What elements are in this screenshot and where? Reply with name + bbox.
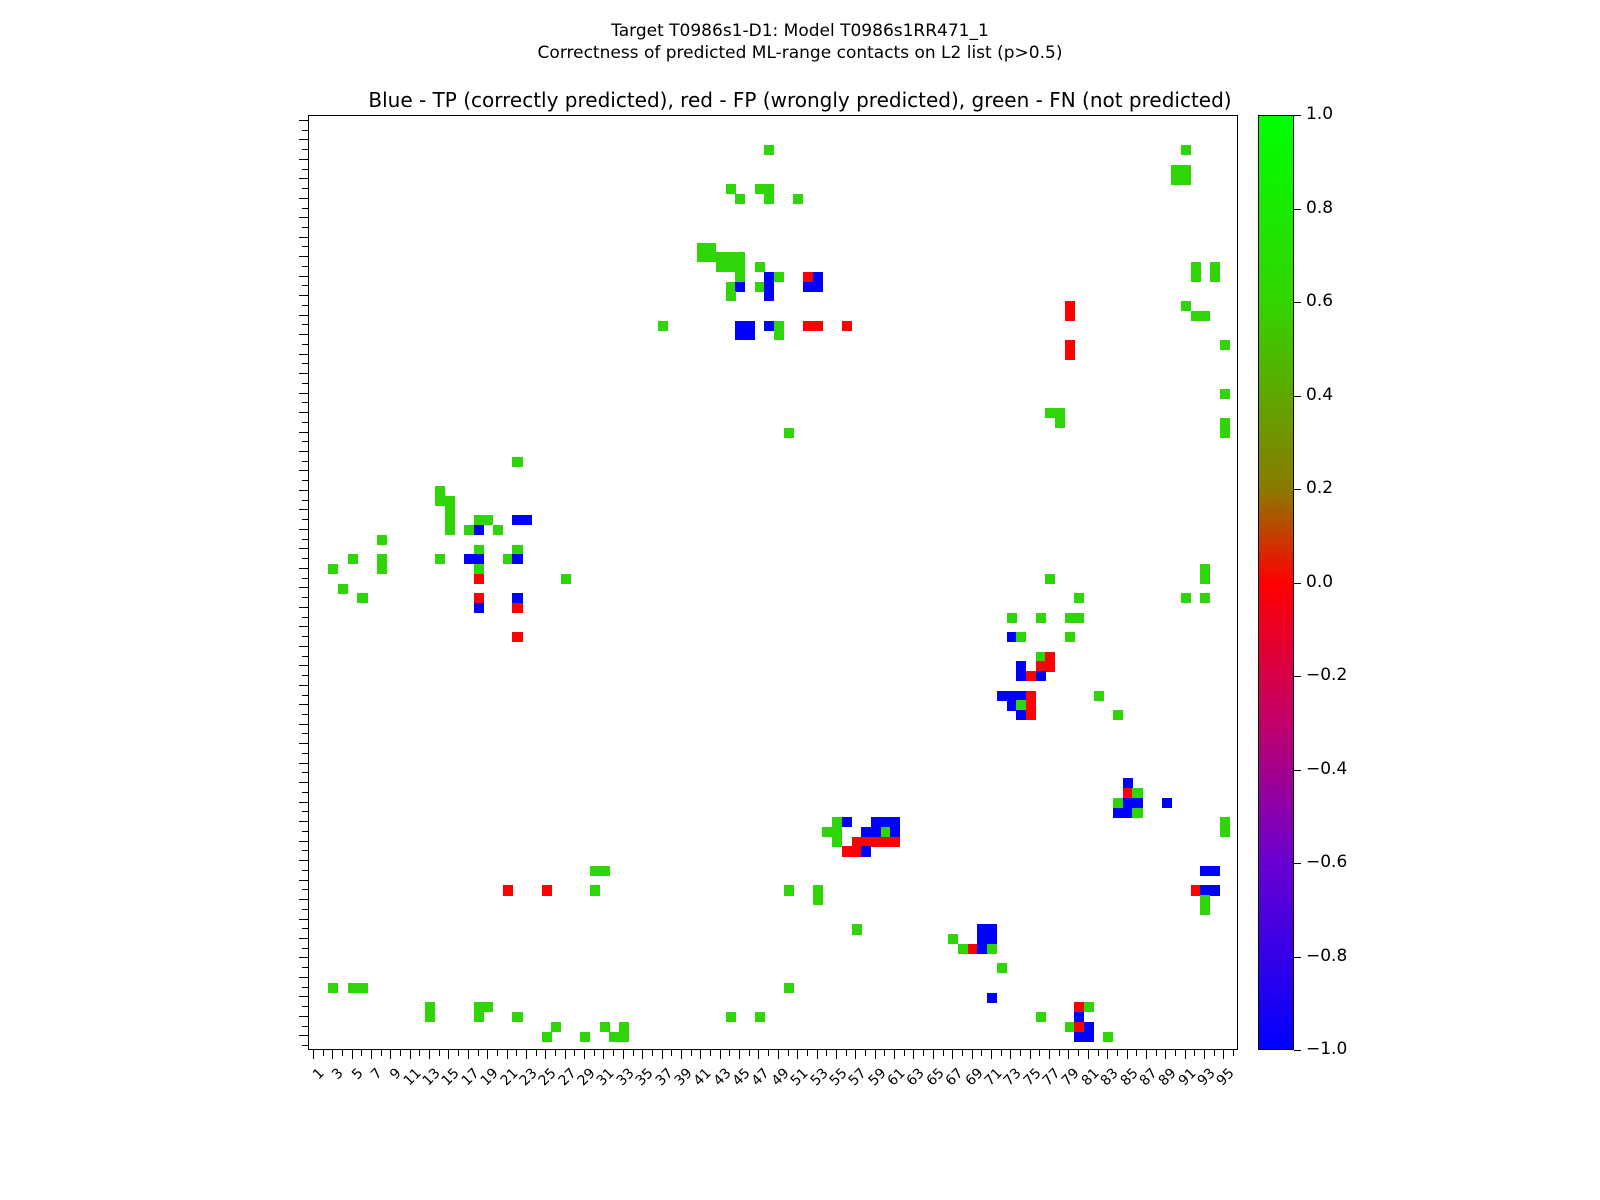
x-axis-tick — [1194, 1050, 1195, 1056]
y-axis-tick — [299, 315, 308, 316]
y-axis-tick — [299, 470, 308, 471]
x-axis-tick — [332, 1050, 333, 1059]
contact-cell — [764, 282, 774, 292]
contact-cell — [1026, 700, 1036, 710]
contact-cell — [1065, 350, 1075, 360]
y-axis-tick — [299, 860, 308, 861]
x-axis-tick — [497, 1050, 498, 1056]
contact-cell — [590, 885, 600, 895]
contact-cell — [745, 321, 755, 331]
contact-cell — [852, 837, 862, 847]
x-axis-tick — [923, 1050, 924, 1056]
x-axis-tick — [633, 1050, 634, 1056]
x-axis-tick — [487, 1050, 488, 1059]
contact-cell — [1123, 798, 1133, 808]
contact-cell — [1210, 272, 1220, 282]
contact-cell — [474, 515, 484, 525]
contact-cell — [1191, 885, 1201, 895]
x-axis-tick — [565, 1050, 566, 1059]
contact-cell — [1036, 652, 1046, 662]
y-axis-tick — [299, 899, 308, 900]
x-axis-tick — [594, 1050, 595, 1056]
contact-cell — [522, 515, 532, 525]
contact-cell — [803, 282, 813, 292]
colorbar-tick-label: −0.6 — [1306, 854, 1347, 871]
contact-cell — [1220, 389, 1230, 399]
x-axis-tick — [700, 1050, 701, 1059]
contact-cell — [726, 184, 736, 194]
colorbar-tick — [1294, 1050, 1301, 1051]
contact-cell — [890, 817, 900, 827]
contact-cell — [852, 846, 862, 856]
contact-cell — [1036, 671, 1046, 681]
x-axis-tick — [943, 1050, 944, 1056]
contact-cell — [764, 321, 774, 331]
contact-cell — [987, 934, 997, 944]
x-axis-tick — [681, 1050, 682, 1059]
y-axis-tick — [299, 607, 308, 608]
contact-cell — [890, 837, 900, 847]
x-axis-tick — [758, 1050, 759, 1059]
contact-cell — [1220, 428, 1230, 438]
y-axis-tick — [299, 1016, 308, 1017]
colorbar-tick-label: 0.8 — [1306, 200, 1333, 217]
contact-cell — [1123, 808, 1133, 818]
contact-cell — [871, 837, 881, 847]
x-axis-tick — [720, 1050, 721, 1059]
contact-cell — [435, 486, 445, 496]
y-axis-tick — [299, 451, 308, 452]
contact-cell — [735, 262, 745, 272]
y-axis-tick — [299, 802, 308, 803]
x-axis-tick — [439, 1050, 440, 1056]
contact-cell — [803, 321, 813, 331]
x-axis-tick — [671, 1050, 672, 1056]
x-axis-tick — [361, 1050, 362, 1056]
contact-cell — [755, 262, 765, 272]
colorbar-tick-label: −0.4 — [1306, 761, 1347, 778]
contact-cell — [842, 817, 852, 827]
contact-cell — [1200, 905, 1210, 915]
contact-cell — [735, 252, 745, 262]
x-axis-tick — [991, 1050, 992, 1059]
contact-cell — [948, 934, 958, 944]
x-axis-tick — [1233, 1050, 1234, 1056]
x-axis-tick — [429, 1050, 430, 1059]
contact-cell — [1113, 710, 1123, 720]
x-axis-tick — [1204, 1050, 1205, 1059]
x-axis-tick — [410, 1050, 411, 1059]
contact-cell — [435, 496, 445, 506]
contact-cell — [1065, 340, 1075, 350]
colorbar-gradient — [1258, 115, 1294, 1050]
contact-cell — [377, 564, 387, 574]
contact-cell — [357, 593, 367, 603]
contact-cell — [445, 496, 455, 506]
contact-cell — [1084, 1022, 1094, 1032]
x-axis-tick — [613, 1050, 614, 1056]
colorbar-tick-label: −1.0 — [1306, 1041, 1347, 1058]
contact-cell — [377, 535, 387, 545]
contact-cell — [474, 545, 484, 555]
colorbar-tick — [1294, 957, 1301, 958]
contact-cell — [542, 885, 552, 895]
contact-cell — [813, 895, 823, 905]
contact-cell — [348, 983, 358, 993]
colorbar-tick — [1294, 302, 1301, 303]
x-axis-tick — [1185, 1050, 1186, 1059]
x-axis-tick — [555, 1050, 556, 1056]
y-axis-tick — [299, 685, 308, 686]
contact-map-plot[interactable] — [308, 115, 1238, 1050]
contact-cell — [1074, 593, 1084, 603]
contact-cell — [1036, 661, 1046, 671]
y-axis-tick — [299, 237, 308, 238]
contact-cell — [483, 1002, 493, 1012]
contact-cell — [619, 1022, 629, 1032]
contact-cell — [445, 506, 455, 516]
y-axis-tick — [299, 782, 308, 783]
contact-cell — [1181, 165, 1191, 175]
contact-cell — [1220, 817, 1230, 827]
contact-cell — [503, 554, 513, 564]
contact-cell — [774, 330, 784, 340]
y-axis-tick — [299, 938, 308, 939]
contact-cell — [1065, 613, 1075, 623]
y-axis-tick — [299, 880, 308, 881]
x-axis-tick — [313, 1050, 314, 1059]
contact-cell — [977, 944, 987, 954]
colorbar-tick — [1294, 770, 1301, 771]
y-axis-labels: 1357911131517192123252729313335373941434… — [0, 115, 300, 1050]
contact-cell — [1007, 632, 1017, 642]
contact-cell — [1074, 1012, 1084, 1022]
y-axis-tick — [299, 665, 308, 666]
contact-cell — [474, 574, 484, 584]
x-axis-tick — [642, 1050, 643, 1059]
contact-cell — [987, 944, 997, 954]
y-axis-tick — [299, 957, 308, 958]
contact-cell — [483, 515, 493, 525]
contact-cell — [968, 944, 978, 954]
contact-cell — [1181, 301, 1191, 311]
contact-cell — [512, 632, 522, 642]
contact-cell — [1094, 691, 1104, 701]
contact-cell — [1181, 174, 1191, 184]
contact-cell — [474, 1012, 484, 1022]
contact-cell — [580, 1032, 590, 1042]
contact-cell — [735, 282, 745, 292]
contact-cell — [987, 993, 997, 1003]
contact-cell — [1200, 866, 1210, 876]
contact-cell — [706, 243, 716, 253]
contact-cell — [745, 330, 755, 340]
contact-cell — [1200, 895, 1210, 905]
x-axis-tick — [400, 1050, 401, 1056]
contact-cell — [1065, 301, 1075, 311]
chart-title-line2: Correctness of predicted ML-range contac… — [0, 43, 1600, 63]
contact-cell — [1132, 798, 1142, 808]
x-axis-tick — [1020, 1050, 1021, 1056]
x-axis-tick — [419, 1050, 420, 1056]
contact-cell — [822, 827, 832, 837]
y-axis-tick — [299, 841, 308, 842]
y-axis-tick — [299, 548, 308, 549]
contact-cell — [832, 837, 842, 847]
contact-cell — [658, 321, 668, 331]
contact-cell — [1074, 1022, 1084, 1032]
colorbar-tick — [1294, 489, 1301, 490]
x-axis-tick — [448, 1050, 449, 1059]
x-axis-tick — [972, 1050, 973, 1059]
contact-cell — [512, 1012, 522, 1022]
y-axis-tick — [299, 977, 308, 978]
colorbar-tick-label: 0.4 — [1306, 387, 1333, 404]
contact-cell — [348, 554, 358, 564]
x-axis-tick — [652, 1050, 653, 1056]
contact-cell — [1045, 652, 1055, 662]
y-axis-tick — [299, 763, 308, 764]
contact-cell — [474, 593, 484, 603]
x-axis-tick — [933, 1050, 934, 1059]
y-axis-tick — [299, 373, 308, 374]
y-axis-tick — [299, 509, 308, 510]
contact-cell — [1065, 1022, 1075, 1032]
x-axis-tick — [1068, 1050, 1069, 1059]
contact-cell — [1007, 700, 1017, 710]
contact-cell — [726, 282, 736, 292]
contact-cell — [764, 194, 774, 204]
x-axis-tick — [1223, 1050, 1224, 1059]
contact-cell — [774, 272, 784, 282]
contact-cell — [338, 584, 348, 594]
contact-cell — [1113, 808, 1123, 818]
x-axis-tick — [342, 1050, 343, 1056]
colorbar-tick-label: 0.6 — [1306, 293, 1333, 310]
contact-cell — [600, 1022, 610, 1032]
contact-cell — [464, 554, 474, 564]
contact-cell — [1210, 885, 1220, 895]
contact-cell — [774, 321, 784, 331]
contact-cell — [1016, 710, 1026, 720]
contact-cell — [1200, 593, 1210, 603]
contact-cell — [1200, 885, 1210, 895]
x-axis-tick — [1039, 1050, 1040, 1056]
contact-cell — [328, 564, 338, 574]
contact-cell — [1065, 311, 1075, 321]
x-axis-tick — [545, 1050, 546, 1059]
contact-cell — [1074, 613, 1084, 623]
colorbar-tick — [1294, 115, 1301, 116]
contact-cell — [1132, 788, 1142, 798]
contact-cell — [813, 885, 823, 895]
contact-cell — [590, 866, 600, 876]
x-axis-tick — [1117, 1050, 1118, 1056]
colorbar-tick-label: −0.8 — [1306, 948, 1347, 965]
chart-title-line1: Target T0986s1-D1: Model T0986s1RR471_1 — [0, 21, 1600, 41]
x-axis-tick — [846, 1050, 847, 1056]
contact-cell — [755, 282, 765, 292]
x-axis-tick — [826, 1050, 827, 1056]
contact-cell — [512, 554, 522, 564]
x-axis-tick — [574, 1050, 575, 1056]
contact-cell — [425, 1002, 435, 1012]
contact-cell — [1162, 798, 1172, 808]
contact-cell — [1045, 574, 1055, 584]
y-axis-tick — [299, 743, 308, 744]
contact-cell — [697, 252, 707, 262]
x-axis-tick — [1146, 1050, 1147, 1059]
x-axis-tick — [1088, 1050, 1089, 1059]
contact-cell — [1065, 632, 1075, 642]
contact-cell — [357, 983, 367, 993]
contact-cell — [1016, 691, 1026, 701]
contact-cell — [1113, 798, 1123, 808]
contact-cell — [764, 184, 774, 194]
contact-cell — [474, 603, 484, 613]
contact-cell — [1036, 613, 1046, 623]
y-axis-tick — [299, 412, 308, 413]
x-axis-tick — [749, 1050, 750, 1056]
colorbar-tick-label: 1.0 — [1306, 106, 1333, 123]
contact-cell — [328, 983, 338, 993]
x-axis-tick — [981, 1050, 982, 1056]
contact-cell — [1191, 272, 1201, 282]
x-axis-tick — [865, 1050, 866, 1056]
y-axis-tick — [299, 646, 308, 647]
x-axis-tick — [962, 1050, 963, 1056]
contact-cell — [1171, 174, 1181, 184]
y-axis-tick — [299, 354, 308, 355]
contact-cell — [1007, 613, 1017, 623]
y-axis-tick — [299, 821, 308, 822]
contact-cell — [1026, 691, 1036, 701]
contact-cell — [1171, 165, 1181, 175]
y-axis-tick — [299, 139, 308, 140]
contact-cell — [861, 846, 871, 856]
contact-cell — [832, 817, 842, 827]
colorbar-tick — [1294, 583, 1301, 584]
contact-cell — [600, 866, 610, 876]
contact-cell — [561, 574, 571, 584]
colorbar-tick — [1294, 863, 1301, 864]
contact-cell — [997, 691, 1007, 701]
contact-cell — [726, 252, 736, 262]
contact-cell — [784, 428, 794, 438]
x-axis-tick — [390, 1050, 391, 1059]
x-axis-tick — [1165, 1050, 1166, 1059]
contact-cell — [435, 554, 445, 564]
contact-cell — [1123, 778, 1133, 788]
x-axis-tick — [836, 1050, 837, 1059]
contact-cell — [842, 321, 852, 331]
y-axis-tick — [299, 626, 308, 627]
contact-cell — [1103, 1032, 1113, 1042]
x-axis-tick — [536, 1050, 537, 1056]
contact-cell — [764, 145, 774, 155]
contact-cell — [697, 243, 707, 253]
contact-cell — [377, 554, 387, 564]
y-axis-tick — [299, 996, 308, 997]
contact-cell — [1016, 700, 1026, 710]
contact-cell — [1045, 661, 1055, 671]
x-axis-tick — [884, 1050, 885, 1056]
contact-cell — [735, 194, 745, 204]
contact-cell — [1200, 311, 1210, 321]
x-axis-tick — [729, 1050, 730, 1056]
contact-cell — [512, 545, 522, 555]
y-axis-tick — [299, 587, 308, 588]
y-axis-tick — [299, 334, 308, 335]
contact-cell — [890, 827, 900, 837]
contact-cell — [1181, 145, 1191, 155]
contact-cell — [881, 837, 891, 847]
x-axis-tick — [458, 1050, 459, 1056]
contact-cell — [464, 525, 474, 535]
x-axis-tick — [1059, 1050, 1060, 1056]
x-axis-tick — [507, 1050, 508, 1059]
contact-cell — [726, 262, 736, 272]
x-axis-tick — [691, 1050, 692, 1056]
x-axis-tick — [468, 1050, 469, 1059]
contact-cell — [716, 252, 726, 262]
x-axis-tick — [1098, 1050, 1099, 1056]
contact-cell — [977, 924, 987, 934]
x-axis-tick — [904, 1050, 905, 1056]
x-axis-tick — [526, 1050, 527, 1059]
y-axis-tick — [299, 724, 308, 725]
contact-cell — [1200, 574, 1210, 584]
x-axis-tick — [371, 1050, 372, 1059]
x-axis-tick — [662, 1050, 663, 1059]
contact-cell — [793, 194, 803, 204]
contact-cell — [764, 272, 774, 282]
contact-cell — [832, 827, 842, 837]
y-axis-tick — [299, 490, 308, 491]
contact-cell — [881, 827, 891, 837]
contact-cell — [1074, 1032, 1084, 1042]
contact-cell — [997, 963, 1007, 973]
contact-cell — [706, 252, 716, 262]
colorbar-tick — [1294, 396, 1301, 397]
colorbar-tick — [1294, 676, 1301, 677]
contact-cell — [784, 885, 794, 895]
y-axis-tick — [299, 159, 308, 160]
contact-cell — [871, 827, 881, 837]
contact-cell — [1191, 262, 1201, 272]
x-axis-tick — [1214, 1050, 1215, 1056]
contact-cell — [493, 525, 503, 535]
contact-cell — [977, 934, 987, 944]
contact-cell — [735, 272, 745, 282]
contact-cell — [503, 885, 513, 895]
contact-cell — [474, 554, 484, 564]
colorbar-tick-label: −0.2 — [1306, 667, 1347, 684]
colorbar-tick-label: 0.0 — [1306, 574, 1333, 591]
contact-cell — [619, 1032, 629, 1042]
contact-cell — [871, 817, 881, 827]
contact-cell — [784, 983, 794, 993]
contact-cell — [726, 291, 736, 301]
contact-cell — [1074, 1002, 1084, 1012]
y-axis-tick — [299, 295, 308, 296]
contact-cell — [861, 837, 871, 847]
x-axis-tick — [710, 1050, 711, 1056]
contact-cell — [445, 525, 455, 535]
chart-legend-description: Blue - TP (correctly predicted), red - F… — [0, 88, 1600, 112]
x-axis-tick — [1078, 1050, 1079, 1056]
x-axis-tick — [381, 1050, 382, 1056]
